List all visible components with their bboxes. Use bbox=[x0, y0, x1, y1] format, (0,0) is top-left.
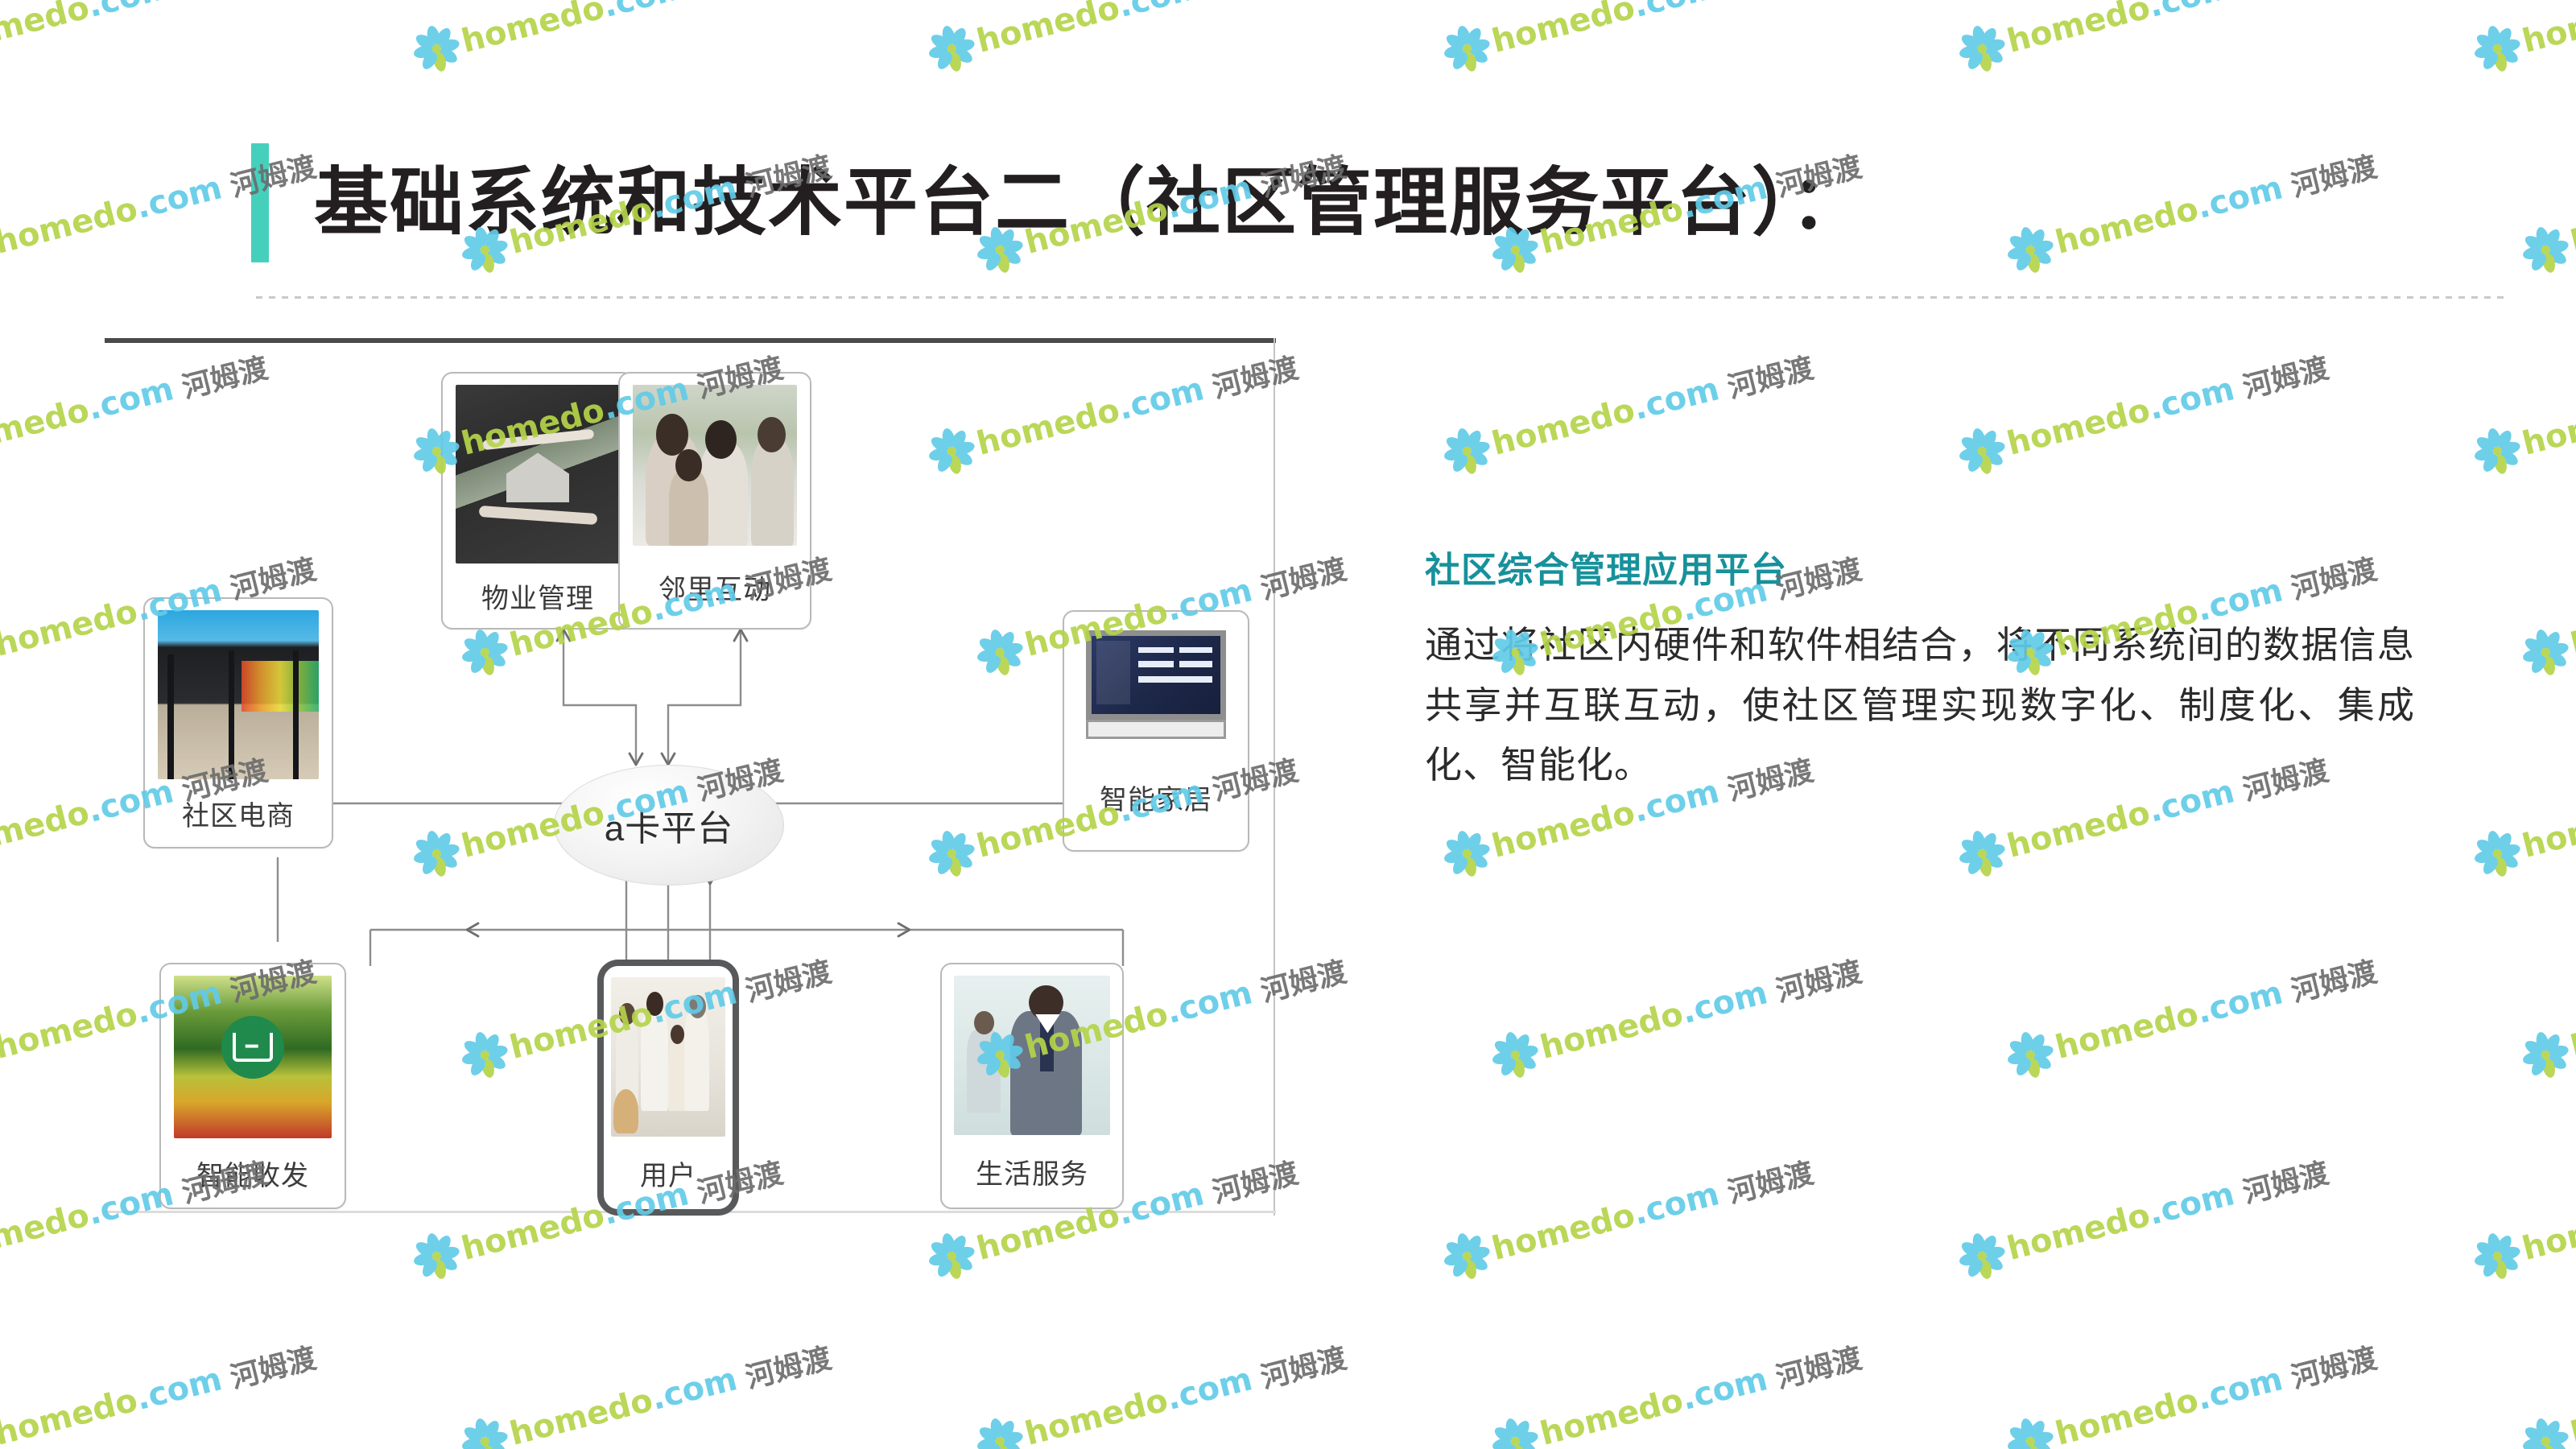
watermark-homedo: homedo.com河姆渡 bbox=[1959, 1150, 2333, 1281]
watermark-brand-blue: .com bbox=[1162, 1360, 1256, 1418]
title-divider bbox=[256, 296, 2510, 299]
node-linli-hudong[interactable]: 邻里互动 bbox=[618, 372, 811, 630]
watermark-homedo: homedo.com河姆渡 bbox=[2475, 345, 2576, 476]
zhineng-jiaju-image bbox=[1076, 623, 1236, 744]
watermark-brand-cn: 河姆渡 bbox=[2238, 345, 2332, 407]
watermark-brand-blue: .com bbox=[2145, 1175, 2238, 1232]
watermark-brand-blue: .com bbox=[132, 1360, 225, 1418]
watermark-homedo: homedo.com河姆渡 bbox=[2523, 948, 2576, 1080]
watermark-brand-green: homedo bbox=[973, 0, 1124, 60]
node-zhineng-shoufa[interactable]: 智能收发 bbox=[159, 963, 346, 1209]
watermark-brand-green: homedo bbox=[0, 391, 93, 462]
watermark-homedo: homedo.com河姆渡 bbox=[2475, 1150, 2576, 1281]
node-wuye-guanli[interactable]: 物业管理 bbox=[441, 372, 634, 630]
watermark-brand-cn: 河姆渡 bbox=[1771, 948, 1865, 1010]
zhineng-jiaju-label: 智能家居 bbox=[1100, 744, 1212, 850]
watermark-brand-cn: 河姆渡 bbox=[1723, 0, 1817, 4]
watermark-brand-green: homedo bbox=[2004, 794, 2154, 865]
hub-label: a卡平台 bbox=[605, 799, 733, 851]
watermark-brand-green: homedo bbox=[2004, 391, 2154, 462]
watermark-brand-green: homedo bbox=[2519, 1196, 2576, 1267]
homedo-flower-icon bbox=[1444, 429, 1489, 474]
watermark-brand-cn: 河姆渡 bbox=[1723, 345, 1817, 407]
watermark-brand-cn: 河姆渡 bbox=[1256, 1335, 1350, 1397]
homedo-flower-icon bbox=[977, 1419, 1022, 1449]
homedo-flower-icon bbox=[462, 1419, 507, 1449]
watermark-brand-cn: 河姆渡 bbox=[1207, 0, 1302, 4]
watermark-brand-blue: .com bbox=[2193, 169, 2286, 226]
watermark-homedo: homedo.com河姆渡 bbox=[2523, 546, 2576, 677]
watermark-brand-cn: 河姆渡 bbox=[2238, 0, 2332, 4]
watermark-brand-blue: .com bbox=[1629, 0, 1723, 25]
watermark-brand-green: homedo bbox=[2052, 995, 2202, 1066]
shequ-dianshang-label: 社区电商 bbox=[182, 779, 295, 847]
linli-hudong-image bbox=[633, 385, 797, 546]
shequ-dianshang-image bbox=[158, 610, 319, 779]
watermark-homedo: homedo.com河姆渡 bbox=[977, 1335, 1351, 1449]
zhineng-shoufa-label: 智能收发 bbox=[196, 1138, 309, 1207]
slide-canvas: 基础系统和技术平台二（社区管理服务平台）： bbox=[0, 0, 2576, 1449]
watermark-homedo: homedo.com河姆渡 bbox=[1959, 345, 2333, 476]
homedo-flower-icon bbox=[2523, 1033, 2568, 1078]
watermark-homedo: homedo.com河姆渡 bbox=[929, 0, 1302, 73]
description-panel: 社区综合管理应用平台 通过将社区内硬件和软件相结合，将不同系统间的数据信息共享并… bbox=[1425, 541, 2415, 795]
linli-hudong-label: 邻里互动 bbox=[658, 546, 771, 628]
watermark-brand-green: homedo bbox=[1488, 391, 1639, 462]
watermark-brand-blue: .com bbox=[2193, 1360, 2286, 1418]
homedo-flower-icon bbox=[414, 27, 459, 72]
watermark-homedo: homedo.com河姆渡 bbox=[2008, 1335, 2381, 1449]
homedo-flower-icon bbox=[1492, 1033, 1538, 1078]
shenghuo-fuwu-image bbox=[954, 976, 1110, 1135]
homedo-flower-icon bbox=[2475, 27, 2520, 72]
homedo-flower-icon bbox=[1444, 832, 1489, 877]
watermark-brand-blue: .com bbox=[2193, 974, 2286, 1031]
watermark-brand-green: homedo bbox=[0, 794, 93, 865]
watermark-brand-cn: 河姆渡 bbox=[2286, 143, 2380, 205]
watermark-brand-green: homedo bbox=[1488, 1196, 1639, 1267]
shenghuo-fuwu-label: 生活服务 bbox=[976, 1135, 1088, 1207]
panel-body: 通过将社区内硬件和软件相结合，将不同系统间的数据信息共享并互联互动，使社区管理实… bbox=[1425, 615, 2415, 795]
watermark-brand-blue: .com bbox=[1678, 1360, 1771, 1418]
architecture-diagram: 物业管理 邻里互动 社区电商 bbox=[105, 330, 1280, 1216]
watermark-brand-green: homedo bbox=[2567, 592, 2576, 663]
watermark-brand-cn: 河姆渡 bbox=[692, 0, 786, 4]
watermark-brand-blue: .com bbox=[1678, 974, 1771, 1031]
watermark-homedo: homedo.com河姆渡 bbox=[2475, 747, 2576, 878]
watermark-homedo: homedo.com河姆渡 bbox=[2523, 1335, 2576, 1449]
node-shequ-dianshang[interactable]: 社区电商 bbox=[143, 597, 333, 848]
homedo-flower-icon bbox=[2008, 1419, 2053, 1449]
homedo-flower-icon bbox=[1492, 1419, 1538, 1449]
node-yonghu[interactable]: 用户 bbox=[597, 960, 739, 1216]
panel-heading: 社区综合管理应用平台 bbox=[1425, 541, 2415, 592]
watermark-homedo: homedo.com河姆渡 bbox=[2523, 143, 2576, 275]
watermark-brand-cn: 河姆渡 bbox=[741, 1335, 835, 1397]
watermark-brand-cn: 河姆渡 bbox=[2238, 1150, 2332, 1212]
title-label: 基础系统和技术平台二（社区管理服务平台）： bbox=[314, 166, 1866, 240]
watermark-brand-green: homedo bbox=[1537, 995, 1687, 1066]
watermark-brand-cn: 河姆渡 bbox=[2286, 1335, 2380, 1397]
watermark-homedo: homedo.com河姆渡 bbox=[2008, 948, 2381, 1080]
watermark-brand-green: homedo bbox=[0, 1196, 93, 1267]
watermark-brand-cn: 河姆渡 bbox=[2286, 948, 2380, 1010]
zhineng-shoufa-image bbox=[174, 976, 332, 1138]
watermark-brand-blue: .com bbox=[1114, 0, 1207, 25]
hub-a-card-platform[interactable]: a卡平台 bbox=[554, 765, 784, 885]
homedo-flower-icon bbox=[1444, 27, 1489, 72]
watermark-brand-green: homedo bbox=[2567, 190, 2576, 261]
watermark-homedo: homedo.com河姆渡 bbox=[0, 1335, 320, 1449]
watermark-homedo: homedo.com河姆渡 bbox=[1444, 345, 1818, 476]
watermark-brand-blue: .com bbox=[599, 0, 692, 25]
watermark-brand-green: homedo bbox=[2004, 1196, 2154, 1267]
watermark-brand-green: homedo bbox=[1488, 0, 1639, 60]
watermark-brand-green: homedo bbox=[0, 0, 93, 60]
watermark-brand-blue: .com bbox=[84, 0, 177, 25]
watermark-brand-green: homedo bbox=[2519, 794, 2576, 865]
watermark-brand-cn: 河姆渡 bbox=[1771, 1335, 1865, 1397]
watermark-homedo: homedo.com河姆渡 bbox=[1492, 948, 1866, 1080]
homedo-flower-icon bbox=[929, 1234, 974, 1279]
homedo-flower-icon bbox=[2523, 228, 2568, 273]
title-accent-bar bbox=[251, 143, 269, 262]
watermark-homedo: homedo.com河姆渡 bbox=[1492, 1335, 1866, 1449]
wuye-guanli-image bbox=[456, 385, 620, 563]
homedo-flower-icon bbox=[1959, 1234, 2004, 1279]
watermark-brand-green: homedo bbox=[2004, 0, 2154, 60]
watermark-brand-green: homedo bbox=[0, 190, 141, 261]
watermark-brand-green: homedo bbox=[2567, 995, 2576, 1066]
homedo-flower-icon bbox=[2523, 630, 2568, 675]
watermark-brand-blue: .com bbox=[647, 1360, 741, 1418]
watermark-brand-green: homedo bbox=[2519, 0, 2576, 60]
homedo-flower-icon bbox=[1444, 1234, 1489, 1279]
yonghu-label: 用户 bbox=[640, 1137, 696, 1209]
yonghu-image bbox=[611, 977, 725, 1137]
node-shenghuo-fuwu[interactable]: 生活服务 bbox=[940, 963, 1124, 1209]
watermark-homedo: homedo.com河姆渡 bbox=[2475, 0, 2576, 73]
watermark-brand-green: homedo bbox=[2052, 1381, 2202, 1449]
homedo-flower-icon bbox=[929, 27, 974, 72]
watermark-brand-green: homedo bbox=[1488, 794, 1639, 865]
watermark-brand-green: homedo bbox=[2052, 190, 2202, 261]
homedo-flower-icon bbox=[2475, 832, 2520, 877]
homedo-flower-icon bbox=[1959, 429, 2004, 474]
wuye-guanli-label: 物业管理 bbox=[481, 563, 594, 628]
watermark-homedo: homedo.com河姆渡 bbox=[414, 0, 787, 73]
homedo-flower-icon bbox=[2475, 429, 2520, 474]
watermark-brand-green: homedo bbox=[1022, 1381, 1172, 1449]
watermark-brand-blue: .com bbox=[2145, 0, 2238, 25]
homedo-flower-icon bbox=[414, 1234, 459, 1279]
watermark-brand-cn: 河姆渡 bbox=[225, 1335, 320, 1397]
watermark-brand-cn: 河姆渡 bbox=[1723, 1150, 1817, 1212]
watermark-brand-blue: .com bbox=[1629, 370, 1723, 427]
homedo-flower-icon bbox=[1959, 27, 2004, 72]
watermark-homedo: homedo.com河姆渡 bbox=[2008, 143, 2381, 275]
watermark-homedo: homedo.com河姆渡 bbox=[1444, 1150, 1818, 1281]
watermark-homedo: homedo.com河姆渡 bbox=[1959, 0, 2333, 73]
homedo-flower-icon bbox=[2008, 228, 2053, 273]
watermark-brand-green: homedo bbox=[2519, 391, 2576, 462]
watermark-brand-cn: 河姆渡 bbox=[177, 0, 271, 4]
watermark-brand-blue: .com bbox=[2145, 370, 2238, 427]
watermark-homedo: homedo.com河姆渡 bbox=[0, 0, 271, 73]
watermark-brand-green: homedo bbox=[0, 1381, 141, 1449]
homedo-flower-icon bbox=[2475, 1234, 2520, 1279]
watermark-brand-green: homedo bbox=[506, 1381, 657, 1449]
watermark-homedo: homedo.com河姆渡 bbox=[1444, 0, 1818, 73]
watermark-brand-blue: .com bbox=[1629, 1175, 1723, 1232]
homedo-flower-icon bbox=[2523, 1419, 2568, 1449]
node-zhineng-jiaju[interactable]: 智能家居 bbox=[1063, 610, 1249, 852]
homedo-flower-icon bbox=[1959, 832, 2004, 877]
watermark-brand-green: homedo bbox=[458, 0, 609, 60]
watermark-brand-blue: .com bbox=[132, 169, 225, 226]
homedo-flower-icon bbox=[2008, 1033, 2053, 1078]
page-title: 基础系统和技术平台二（社区管理服务平台）： bbox=[251, 143, 1866, 262]
watermark-homedo: homedo.com河姆渡 bbox=[462, 1335, 836, 1449]
watermark-brand-green: homedo bbox=[2567, 1381, 2576, 1449]
watermark-brand-green: homedo bbox=[1537, 1381, 1687, 1449]
